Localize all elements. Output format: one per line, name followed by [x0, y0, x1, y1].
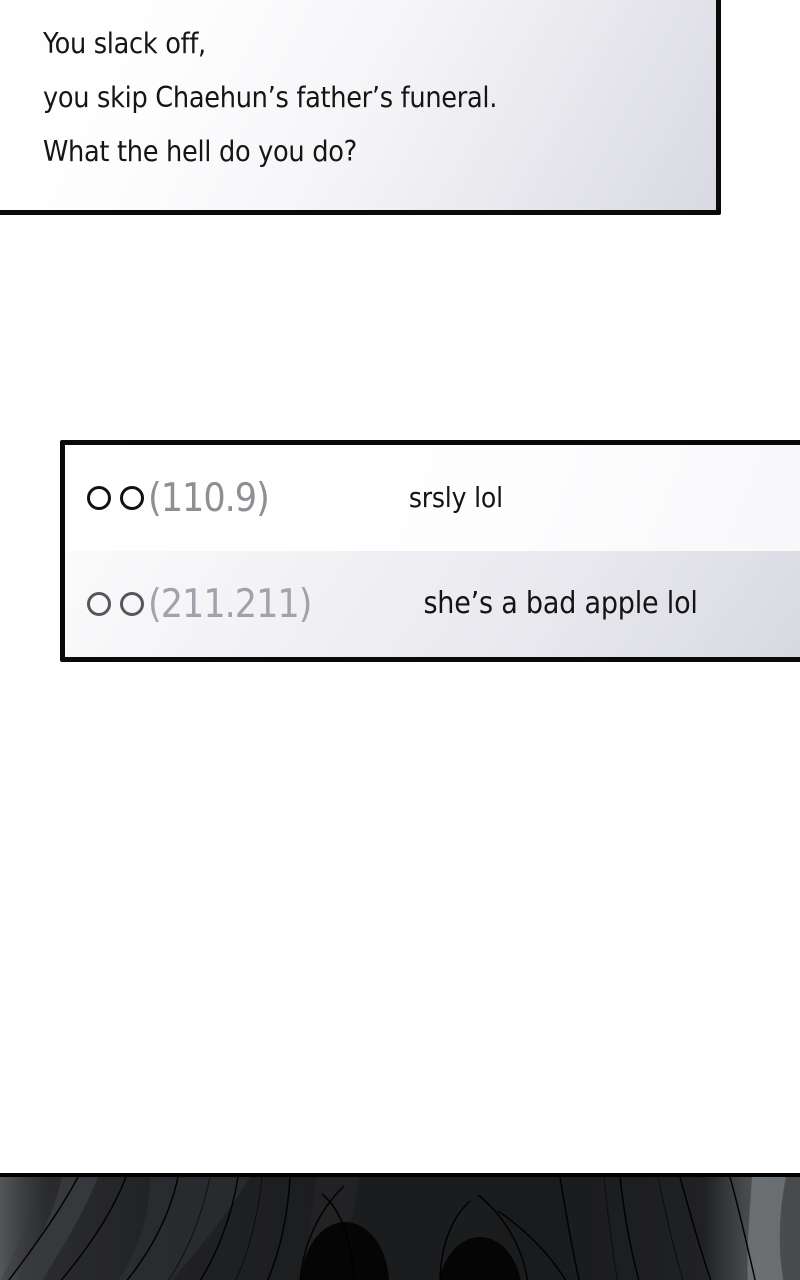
- anon-circle-left: [87, 486, 111, 510]
- anon-circle-right: [120, 486, 144, 510]
- double-circle-icon: [87, 486, 144, 510]
- webtoon-page: You slack off, you skip Chaehun’s father…: [0, 0, 800, 1280]
- anon-circle-right: [120, 592, 144, 616]
- comment-row[interactable]: (211.211) she’s a bad apple lol: [65, 551, 800, 657]
- speech-line-2: you skip Chaehun’s father’s funeral.: [43, 71, 706, 125]
- commenter-ip-tag: (110.9): [148, 479, 269, 518]
- narration-speech-box: You slack off, you skip Chaehun’s father…: [0, 0, 721, 215]
- comment-body-text: srsly lol: [409, 484, 503, 512]
- anon-circle-left: [87, 592, 111, 616]
- double-circle-icon: [87, 592, 144, 616]
- comment-row[interactable]: (110.9) srsly lol: [65, 445, 800, 551]
- speech-line-1: You slack off,: [43, 17, 706, 71]
- hair-strands-illustration: [0, 1177, 800, 1280]
- speech-text-block: You slack off, you skip Chaehun’s father…: [43, 17, 706, 179]
- commenter-ip-tag: (211.211): [148, 585, 311, 624]
- speech-line-3: What the hell do you do?: [43, 125, 706, 179]
- anonymous-comment-list[interactable]: (110.9) srsly lol (211.211) she’s a bad …: [60, 440, 800, 662]
- comment-body-text: she’s a bad apple lol: [423, 589, 697, 619]
- dark-hair-art-panel: [0, 1173, 800, 1280]
